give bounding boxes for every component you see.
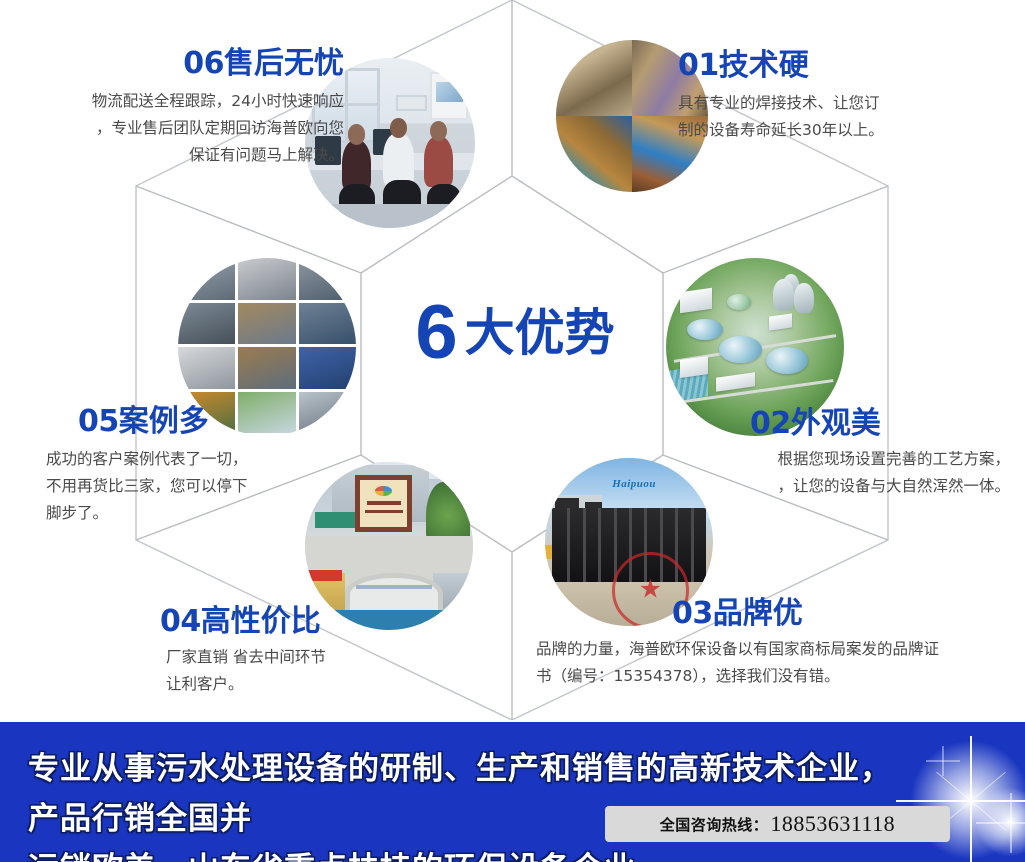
feature-05-number: 05 (78, 404, 119, 439)
feature-02-number: 02 (750, 406, 791, 441)
feature-01-body: 具有专业的焊接技术、让您订 制的设备寿命延长30年以上。 (678, 90, 1008, 144)
feature-01: 01技术硬 具有专业的焊接技术、让您订 制的设备寿命延长30年以上。 (678, 50, 1008, 144)
gate-scene (305, 462, 473, 630)
floor-shape (305, 204, 475, 228)
red-banner-shape (305, 570, 342, 582)
silo-shape (794, 283, 814, 313)
feature-06-line-1: 物流配送全程跟踪，24小时快速响应 (14, 88, 344, 115)
building-shape (716, 373, 755, 393)
person-shape (383, 133, 414, 187)
center-number: 6 (415, 295, 456, 371)
feature-01-number: 01 (678, 48, 719, 83)
building-shape (769, 313, 792, 330)
case-thumb (238, 258, 295, 300)
feature-04-number: 04 (160, 604, 201, 639)
sparkle-icon (970, 800, 972, 802)
feature-01-line-2: 制的设备寿命延长30年以上。 (678, 117, 1008, 144)
sign-text-line (367, 501, 401, 505)
tank-shape (719, 336, 762, 363)
case-thumb (299, 303, 356, 345)
hotline-label: 全国咨询热线： (660, 814, 769, 835)
feature-03-heading: 03品牌优 (672, 598, 1016, 630)
wall-poster (430, 72, 468, 120)
silo-shape (773, 279, 794, 311)
tank-shape (727, 294, 752, 310)
sparkle-icon (942, 760, 944, 762)
feature-03-line-2: 书（编号：15354378），选择我们没有错。 (536, 663, 1016, 690)
feature-01-title: 技术硬 (719, 48, 809, 83)
building-shape (680, 288, 712, 314)
tank-shape (687, 319, 723, 340)
banner-line-2: 远销欧美，山东省重点扶持的环保设备企业。 (28, 844, 898, 862)
case-thumb (178, 303, 235, 345)
center-headline: 6 大优势 (385, 288, 645, 378)
person-shape (342, 140, 371, 191)
weld-tile (556, 40, 632, 116)
sparkle-icon (1010, 822, 1012, 824)
feature-06-line-3: 保证有问题马上解决。 (14, 142, 344, 169)
air-conditioner-shape (396, 95, 427, 111)
feature-05-title: 案例多 (119, 404, 209, 439)
case-thumb (238, 347, 295, 389)
building-shape (680, 356, 708, 378)
feature-06-number: 06 (183, 46, 224, 81)
factory-gate-photo (305, 462, 473, 630)
haipuou-logo: Haipuou (612, 478, 676, 493)
feature-04-heading: 04高性价比 (160, 606, 480, 638)
hotline-box[interactable]: 全国咨询热线： 18853631118 (605, 806, 950, 842)
feature-06-line-2: ，专业售后团队定期回访海普欧向您 (14, 115, 344, 142)
feature-02-heading: 02外观美 (750, 408, 1010, 440)
feature-05-heading: 05案例多 (78, 406, 378, 438)
feature-03: 03品牌优 品牌的力量，海普欧环保设备以有国家商标局案发的品牌证 书（编号：15… (536, 598, 1016, 690)
feature-04-line-1: 厂家直销 省去中间环节 (166, 644, 480, 671)
case-thumb (178, 347, 235, 389)
feature-04-body: 厂家直销 省去中间环节 让利客户。 (166, 644, 480, 698)
sparkle-icon (910, 740, 1025, 860)
case-thumb (299, 347, 356, 389)
weld-tile (556, 116, 632, 192)
sign-text-line (365, 510, 403, 513)
feature-03-body: 品牌的力量，海普欧环保设备以有国家商标局案发的品牌证 书（编号：15354378… (536, 636, 1016, 690)
feature-06-heading: 06售后无忧 (14, 48, 344, 80)
hotline-number: 18853631118 (770, 811, 895, 837)
page-root: 6 大优势 06售后无忧 物流配送全程跟踪，24小时快速响应 ，专业售后团队定期… (0, 0, 1025, 862)
banner-text: 专业从事污水处理设备的研制、生产和销售的高新技术企业，产品行销全国并 远销欧美，… (28, 744, 898, 862)
tank-shape (766, 347, 809, 374)
person-shape (424, 136, 453, 187)
feature-04-line-2: 让利客户。 (166, 671, 480, 698)
feature-03-title: 品牌优 (713, 596, 803, 631)
center-suffix: 大优势 (465, 308, 615, 358)
feature-03-number: 03 (672, 596, 713, 631)
feature-02-title: 外观美 (791, 406, 881, 441)
feature-06-body: 物流配送全程跟踪，24小时快速响应 ，专业售后团队定期回访海普欧向您 保证有问题… (14, 88, 344, 169)
feature-01-line-1: 具有专业的焊接技术、让您订 (678, 90, 1008, 117)
feature-04-title: 高性价比 (201, 604, 321, 639)
feature-06: 06售后无忧 物流配送全程跟踪，24小时快速响应 ，专业售后团队定期回访海普欧向… (14, 48, 344, 169)
sparkle-icon (975, 787, 1025, 857)
feature-03-line-1: 品牌的力量，海普欧环保设备以有国家商标局案发的品牌证 (536, 636, 1016, 663)
feature-01-heading: 01技术硬 (678, 50, 1008, 82)
feature-06-title: 售后无忧 (224, 46, 344, 81)
feature-04: 04高性价比 厂家直销 省去中间环节 让利客户。 (160, 606, 480, 698)
company-signboard (355, 475, 412, 532)
case-thumb (238, 303, 295, 345)
